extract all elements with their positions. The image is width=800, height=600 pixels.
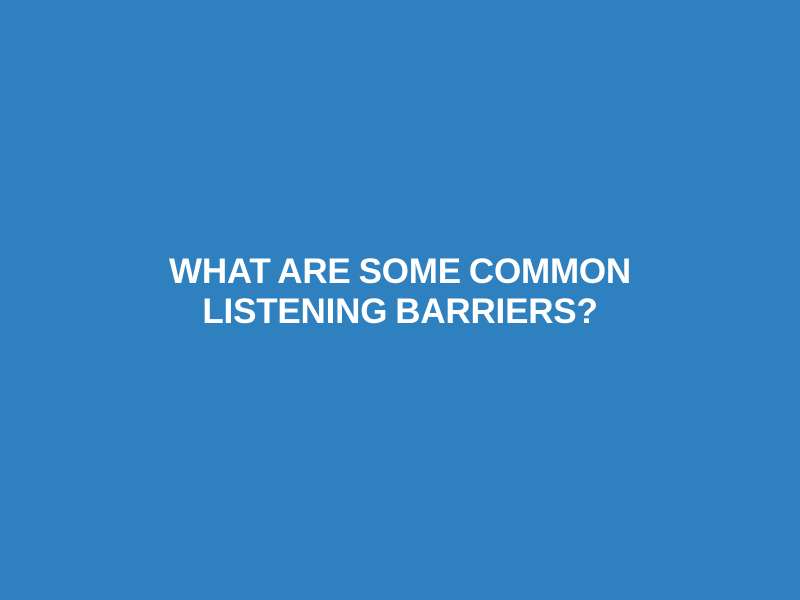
- headline-block: What Are Some Common Listening Barriers?: [0, 252, 800, 332]
- page-title: What Are Some Common Listening Barriers?: [80, 252, 720, 332]
- title-card-background: What Are Some Common Listening Barriers?: [0, 0, 800, 600]
